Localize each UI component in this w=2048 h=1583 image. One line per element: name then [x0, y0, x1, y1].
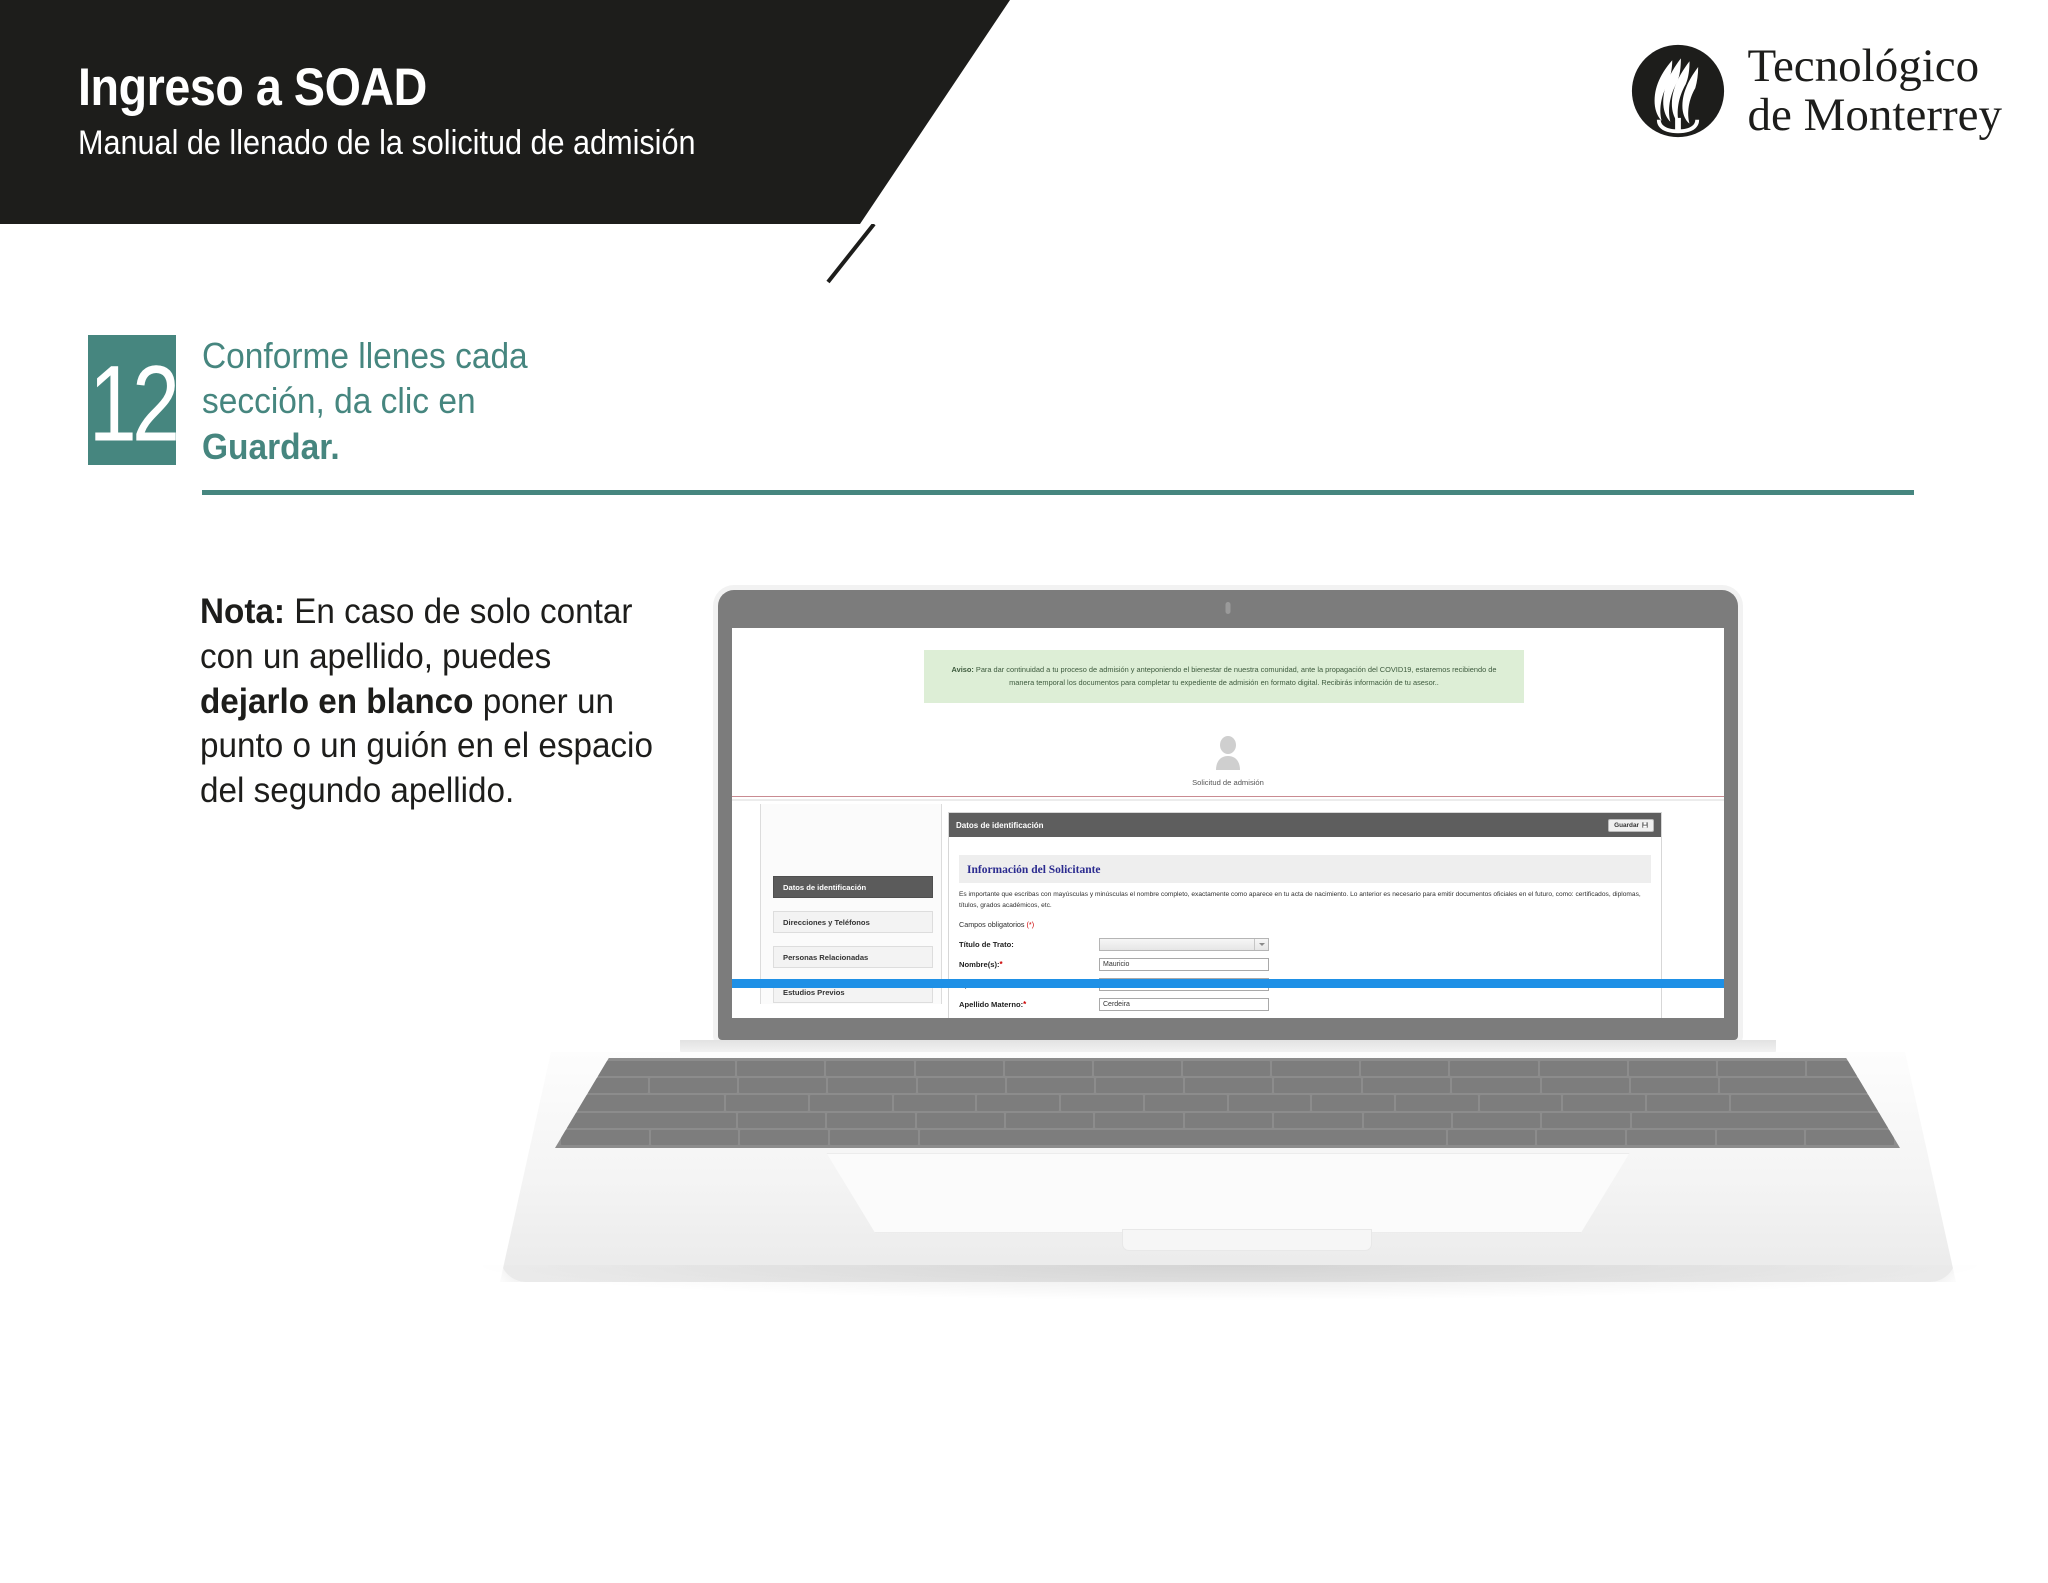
- save-button-label: Guardar: [1614, 822, 1639, 829]
- field-row-nombres: Nombre(s):* Mauricio: [959, 954, 1651, 974]
- required-asterisk: *: [1023, 1000, 1026, 1009]
- laptop-front-notch: [1122, 1229, 1372, 1251]
- header-slash-decoration: [822, 224, 882, 284]
- logo-line-2: de Monterrey: [1748, 91, 2002, 140]
- sidebar-item-datos-de-identificacion[interactable]: Datos de identificación: [773, 876, 933, 898]
- laptop-shadow: [460, 1265, 2000, 1301]
- page-title: Ingreso a SOAD: [78, 57, 427, 118]
- sidebar-item-personas-relacionadas[interactable]: Personas Relacionadas: [773, 946, 933, 968]
- step-line-1: Conforme llenes cada: [202, 335, 528, 376]
- step-number: 12: [89, 340, 176, 465]
- laptop-trackpad[interactable]: [808, 1153, 1648, 1233]
- page-subtitle: Manual de llenado de la solicitud de adm…: [78, 124, 695, 163]
- logo-wordmark: Tecnológico de Monterrey: [1748, 42, 2002, 140]
- form-fields: Título de Trato: Nombre(s):* Mauricio: [959, 934, 1651, 1018]
- user-avatar-icon: [1213, 736, 1243, 770]
- titulo-de-trato-select[interactable]: [1099, 938, 1269, 951]
- save-button[interactable]: Guardar: [1608, 819, 1654, 832]
- field-label-text: Título de Trato:: [959, 940, 1014, 949]
- keyboard-row: [561, 1095, 1894, 1110]
- required-fields-note: Campos obligatorios (*): [959, 920, 1651, 929]
- apellido-materno-input[interactable]: Cerdeira: [1099, 998, 1269, 1011]
- field-label: Título de Trato:: [959, 940, 1099, 949]
- laptop-mockup: Aviso: Para dar continuidad a tu proceso…: [500, 560, 1960, 1560]
- keyboard-row: [561, 1078, 1894, 1093]
- field-label-text: Apellido Materno:: [959, 1000, 1023, 1009]
- chevron-down-icon: [1254, 939, 1268, 950]
- panel-header-title: Datos de identificación: [956, 821, 1044, 830]
- step-divider: [202, 490, 1914, 495]
- page-root: Ingreso a SOAD Manual de llenado de la s…: [0, 0, 2048, 1583]
- aviso-label: Aviso:: [952, 665, 974, 674]
- applicant-caption: Solicitud de admisión: [732, 778, 1724, 787]
- required-marker: (*): [1027, 920, 1035, 929]
- keyboard-row: [561, 1061, 1894, 1076]
- section-title: Información del Solicitante: [967, 864, 1101, 876]
- section-title-bar: Información del Solicitante: [959, 855, 1651, 883]
- floppy-disk-icon: [1642, 822, 1648, 828]
- note-block: Nota: En caso de solo contar con un apel…: [200, 590, 656, 814]
- keyboard-row: [561, 1113, 1894, 1128]
- logo-line-1: Tecnológico: [1748, 42, 2002, 91]
- required-note-text: Campos obligatorios: [959, 920, 1025, 929]
- step-number-badge: 12: [88, 335, 176, 465]
- nombres-input[interactable]: Mauricio: [1099, 958, 1269, 971]
- panel-header: Datos de identificación Guardar: [949, 813, 1661, 837]
- header-rule-shadow: [732, 799, 1724, 801]
- applicant-header: Solicitud de admisión: [732, 736, 1724, 787]
- institution-logo: Tecnológico de Monterrey: [1630, 42, 2002, 140]
- laptop-lid: Aviso: Para dar continuidad a tu proceso…: [718, 590, 1738, 1040]
- field-label: Nombre(s):*: [959, 960, 1099, 969]
- footer-blue-bar: [732, 979, 1724, 988]
- sidebar-item-label: Datos de identificación: [783, 883, 866, 892]
- sidebar-item-label: Personas Relacionadas: [783, 953, 868, 962]
- field-row-apellido-materno: Apellido Materno:* Cerdeira: [959, 994, 1651, 1014]
- sidebar-item-label: Direcciones y Teléfonos: [783, 918, 870, 927]
- section-description: Es importante que escribas con mayúscula…: [959, 890, 1651, 911]
- tec-flame-logo-icon: [1630, 43, 1726, 139]
- laptop-keyboard: [555, 1058, 1900, 1148]
- field-row-titulo-de-trato: Título de Trato:: [959, 934, 1651, 954]
- keyboard-row: [561, 1130, 1894, 1145]
- sidebar-item-direcciones-y-telefonos[interactable]: Direcciones y Teléfonos: [773, 911, 933, 933]
- note-bold-1: dejarlo en blanco: [200, 682, 473, 721]
- field-label-text: Nombre(s):: [959, 960, 1000, 969]
- step-instruction: Conforme llenes cada sección, da clic en…: [202, 333, 704, 469]
- step-line-2: sección, da clic en: [202, 380, 476, 421]
- aviso-banner: Aviso: Para dar continuidad a tu proceso…: [924, 650, 1524, 703]
- browser-screen: Aviso: Para dar continuidad a tu proceso…: [732, 628, 1724, 1018]
- sidebar-item-label: Estudios Previos: [783, 988, 845, 997]
- field-label: Apellido Materno:*: [959, 1000, 1099, 1009]
- note-label: Nota:: [200, 592, 285, 631]
- aviso-text: Para dar continuidad a tu proceso de adm…: [974, 665, 1497, 687]
- header-rule: [732, 796, 1724, 797]
- step-action-word: Guardar.: [202, 426, 340, 467]
- field-row-fecha-de-nacimiento: Fecha de Nacimiento:* 11/11/2005: [959, 1014, 1651, 1018]
- webcam-icon: [1226, 602, 1231, 614]
- required-asterisk: *: [1000, 960, 1003, 969]
- form-sidebar: Datos de identificación Direcciones y Te…: [760, 804, 942, 1004]
